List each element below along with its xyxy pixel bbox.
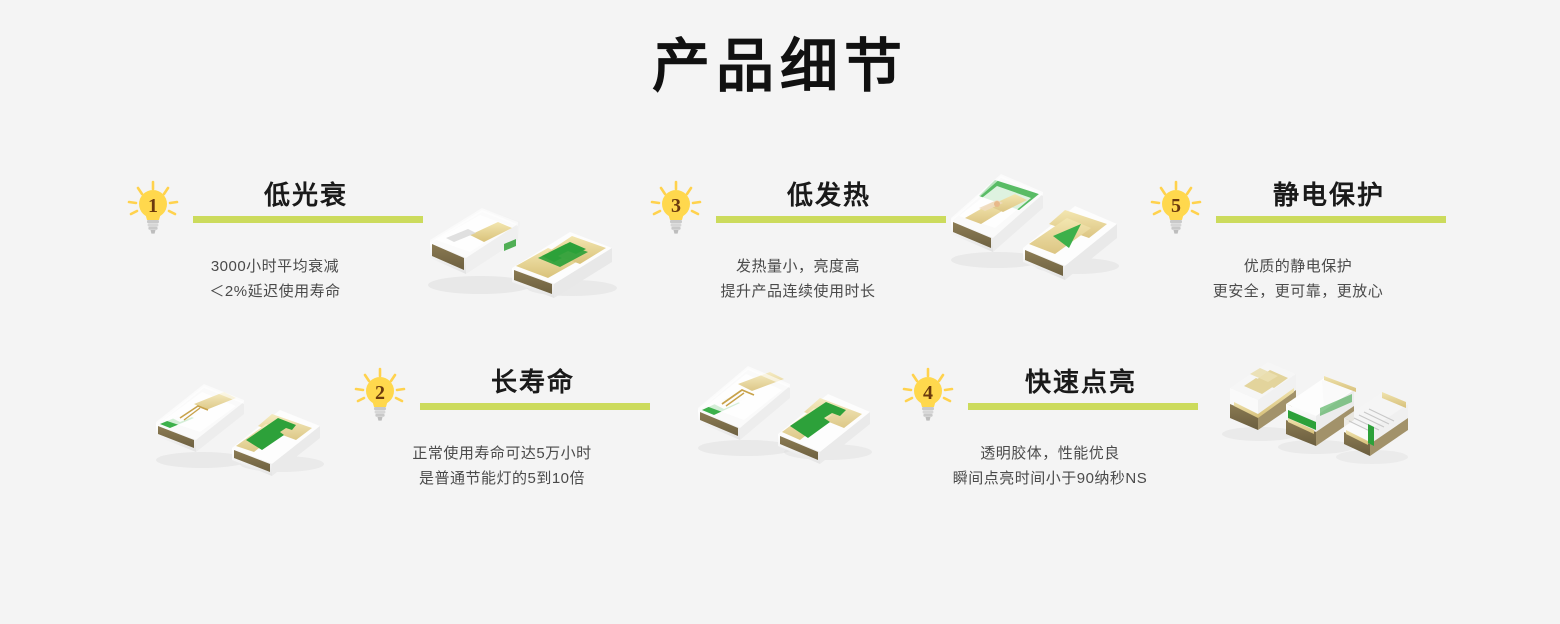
- feature-desc-line-2: 瞬间点亮时间小于90纳秒NS: [900, 466, 1200, 491]
- feature-underline: [1216, 216, 1446, 223]
- lightbulb-icon: 2: [352, 367, 408, 425]
- feature-desc-line-1: 发热量小，亮度高: [648, 254, 948, 279]
- lightbulb-icon: 4: [900, 367, 956, 425]
- feature-desc-line-2: ＜2%延迟使用寿命: [125, 279, 425, 304]
- product-image-smd-led-pair-large-green: [690, 352, 880, 472]
- feature-desc-line-2: 是普通节能灯的5到10倍: [352, 466, 652, 491]
- product-image-smd-led-pair-green-pad: [150, 368, 330, 483]
- feature-desc-line-2: 提升产品连续使用时长: [648, 279, 948, 304]
- feature-title: 低发热: [710, 178, 948, 212]
- feature-description: 透明胶体，性能优良 瞬间点亮时间小于90纳秒NS: [900, 441, 1200, 491]
- feature-underline: [420, 403, 650, 410]
- feature-header: 3 低发热: [648, 178, 948, 240]
- feature-underline: [193, 216, 423, 223]
- feature-title: 低光衰: [187, 178, 425, 212]
- feature-title: 静电保护: [1210, 178, 1448, 212]
- lightbulb-icon: 5: [1148, 180, 1204, 238]
- feature-header: 5 静电保护: [1148, 178, 1448, 240]
- bulb-number: 1: [148, 195, 158, 217]
- feature-description: 正常使用寿命可达5万小时 是普通节能灯的5到10倍: [352, 441, 652, 491]
- product-image-smd-led-trio-side-view: [1212, 352, 1412, 477]
- feature-title: 快速点亮: [962, 365, 1200, 399]
- feature-description: 3000小时平均衰减 ＜2%延迟使用寿命: [125, 254, 425, 304]
- bulb-number: 4: [923, 382, 933, 404]
- feature-block-2: 2 长寿命 正常使用寿命可达5万小时 是普通节能灯的5到10倍: [352, 365, 652, 427]
- feature-description: 发热量小，亮度高 提升产品连续使用时长: [648, 254, 948, 304]
- feature-block-5: 5 静电保护 优质的静电保护 更安全，更可靠，更放心: [1148, 178, 1448, 240]
- feature-desc-line-1: 优质的静电保护: [1148, 254, 1448, 279]
- feature-underline: [716, 216, 946, 223]
- bulb-number: 3: [671, 195, 681, 217]
- feature-desc-line-1: 正常使用寿命可达5万小时: [352, 441, 652, 466]
- bulb-number: 5: [1171, 195, 1181, 217]
- feature-description: 优质的静电保护 更安全，更可靠，更放心: [1148, 254, 1448, 304]
- lightbulb-icon: 3: [648, 180, 704, 238]
- feature-desc-line-1: 3000小时平均衰减: [125, 254, 425, 279]
- bulb-number: 2: [375, 382, 385, 404]
- feature-underline: [968, 403, 1198, 410]
- page-title: 产品细节: [0, 38, 1560, 96]
- feature-header: 4 快速点亮: [900, 365, 1200, 427]
- lightbulb-icon: 1: [125, 180, 181, 238]
- feature-block-1: 1 低光衰 3000小时平均衰减 ＜2%延迟使用寿命: [125, 178, 425, 240]
- feature-block-3: 3 低发热 发热量小，亮度高 提升产品连续使用时长: [648, 178, 948, 240]
- feature-header: 1 低光衰: [125, 178, 425, 240]
- feature-title: 长寿命: [414, 365, 652, 399]
- feature-desc-line-1: 透明胶体，性能优良: [900, 441, 1200, 466]
- feature-block-4: 4 快速点亮 透明胶体，性能优良 瞬间点亮时间小于90纳秒NS: [900, 365, 1200, 427]
- feature-header: 2 长寿命: [352, 365, 652, 427]
- feature-desc-line-2: 更安全，更可靠，更放心: [1148, 279, 1448, 304]
- product-image-smd-led-pair-top-view-triangle: [945, 162, 1130, 287]
- product-image-smd-led-pair-clear-green: [420, 180, 625, 305]
